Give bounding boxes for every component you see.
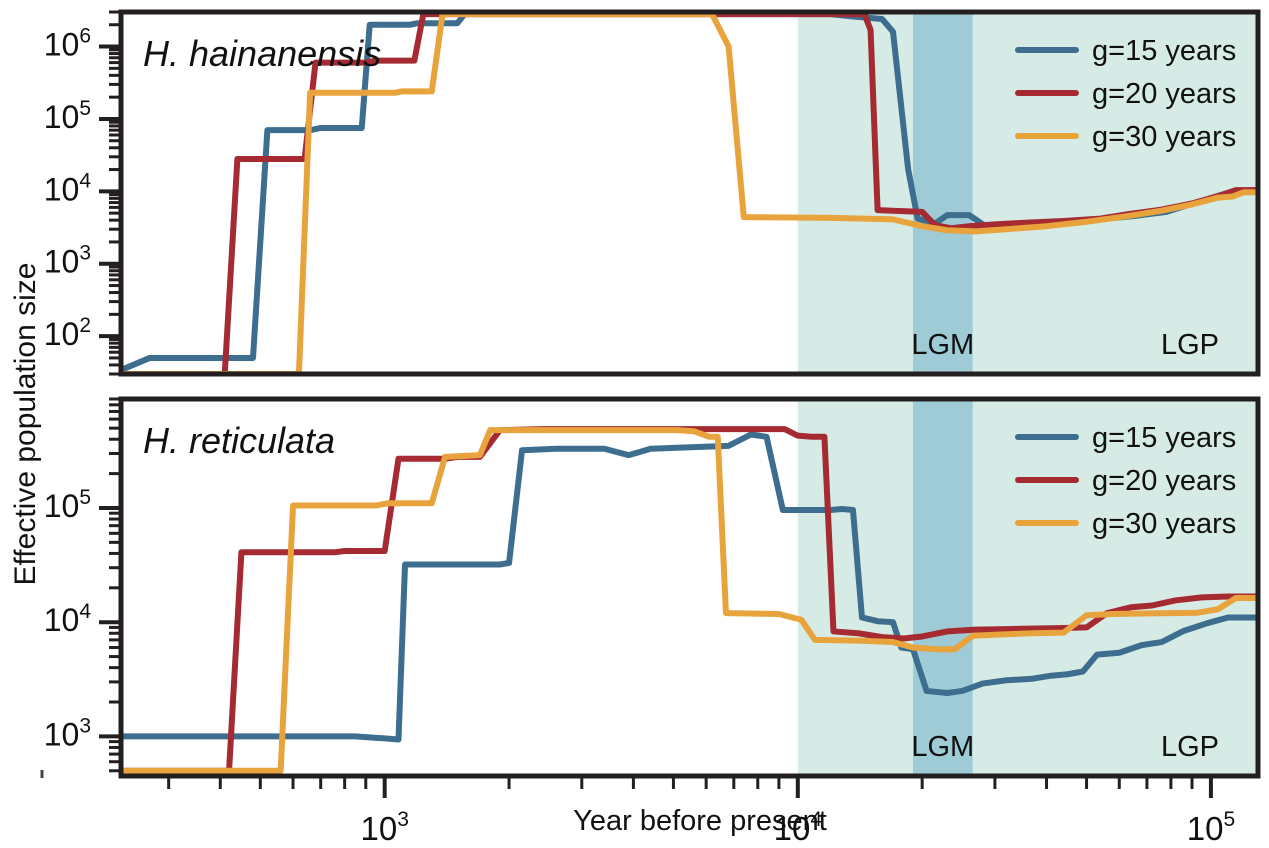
plot-canvas: 102103104105106H. hainanensisLGMLGPg=15 … xyxy=(0,0,1269,848)
y-tick-label: 102 xyxy=(44,314,91,352)
y-tick-exponent: 3 xyxy=(79,714,91,737)
x-tick-label: 105 xyxy=(1187,808,1235,847)
y-tick-exponent: 4 xyxy=(79,169,91,192)
y-tick-label: 103 xyxy=(44,242,91,280)
lgm-label: LGM xyxy=(911,731,974,763)
lgp-label: LGP xyxy=(1161,329,1219,361)
panel-title-top: H. hainanensis xyxy=(143,33,381,74)
y-tick-exponent: 5 xyxy=(79,486,91,509)
x-tick-label: 103 xyxy=(360,808,408,847)
legend-label: g=20 years xyxy=(1092,78,1236,110)
y-tick-label: 106 xyxy=(44,25,91,63)
y-tick-label: 104 xyxy=(44,600,92,638)
x-tick-base: 10 xyxy=(360,810,397,847)
y-tick-exponent: 4 xyxy=(79,600,91,623)
lgm-band xyxy=(913,12,973,374)
y-tick-base: 10 xyxy=(44,27,80,63)
lgp-band xyxy=(798,399,1258,776)
legend-label: g=15 years xyxy=(1092,422,1236,454)
lgp-label: LGP xyxy=(1161,731,1219,763)
legend-top: g=15 yearsg=20 yearsg=30 years xyxy=(1018,35,1236,153)
y-tick-exponent: 5 xyxy=(79,97,91,120)
legend-label: g=20 years xyxy=(1092,465,1236,497)
y-tick-label: 104 xyxy=(44,169,92,207)
panel-bottom: 103104105103104105H. reticulataLGMLGPg=1… xyxy=(44,399,1258,847)
y-tick-base: 10 xyxy=(44,316,80,352)
y-tick-base: 10 xyxy=(44,244,80,280)
legend-label: g=30 years xyxy=(1092,121,1236,153)
legend-label: g=30 years xyxy=(1092,508,1236,540)
y-tick-base: 10 xyxy=(44,602,80,638)
y-tick-exponent: 3 xyxy=(79,242,91,265)
x-axis-label: Year before present xyxy=(573,805,827,838)
legend-label: g=15 years xyxy=(1092,35,1236,67)
lgm-band xyxy=(913,399,973,776)
y-tick-base: 10 xyxy=(44,716,80,752)
panel-title-bottom: H. reticulata xyxy=(143,420,335,461)
y-tick-base: 10 xyxy=(44,488,80,524)
legend-bottom: g=15 yearsg=20 yearsg=30 years xyxy=(1018,422,1236,540)
x-tick-exponent: 5 xyxy=(1223,808,1235,831)
y-tick-label: 103 xyxy=(44,714,91,752)
y-tick-label: 105 xyxy=(44,97,91,135)
figure-root: Effective population size Year before pr… xyxy=(0,0,1269,848)
y-tick-base: 10 xyxy=(44,171,80,207)
y-tick-exponent: 6 xyxy=(79,25,91,48)
y-axis-label: Effective population size xyxy=(9,263,43,586)
y-axis-label-wrap: Effective population size xyxy=(30,0,31,848)
x-tick-exponent: 3 xyxy=(397,808,409,831)
x-tick-base: 10 xyxy=(1187,810,1224,847)
panel-top: 102103104105106H. hainanensisLGMLGPg=15 … xyxy=(44,12,1258,374)
y-tick-exponent: 2 xyxy=(79,314,91,337)
y-tick-base: 10 xyxy=(44,99,80,135)
y-tick-label: 105 xyxy=(44,486,91,524)
lgm-label: LGM xyxy=(911,329,974,361)
